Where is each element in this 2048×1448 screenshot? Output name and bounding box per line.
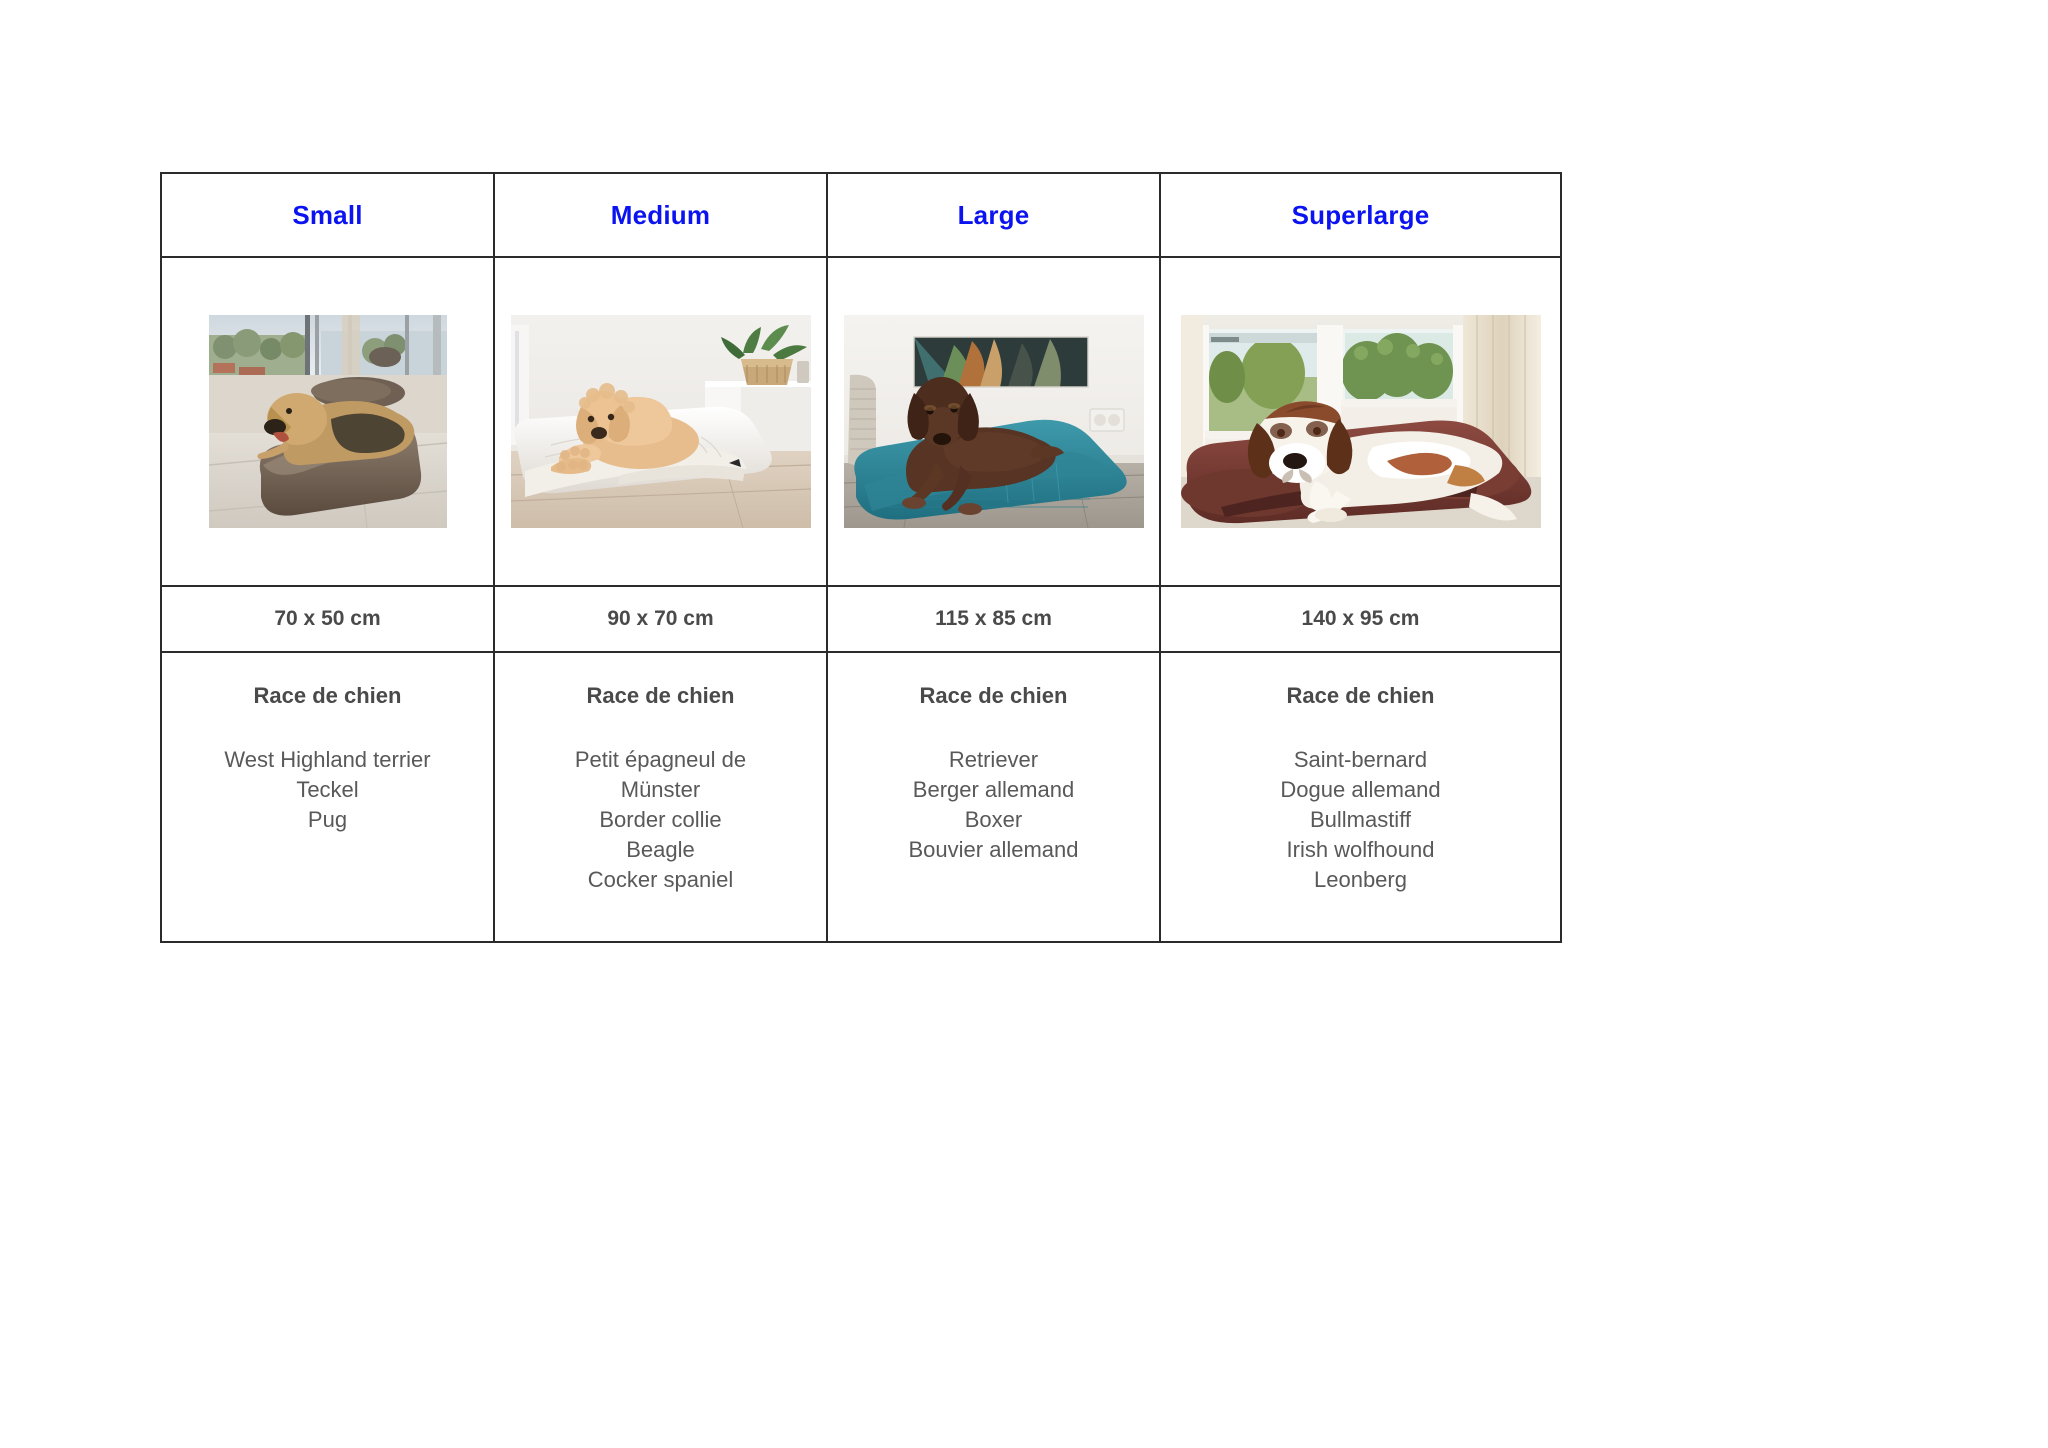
list-item: Boxer (828, 805, 1159, 835)
column-title-superlarge: Superlarge (1161, 174, 1560, 256)
column-title-large: Large (828, 174, 1159, 256)
list-item: Teckel (162, 775, 493, 805)
medium-dog-bed-photo (511, 315, 811, 528)
list-item: Münster (495, 775, 826, 805)
table-photo-row (161, 257, 1561, 586)
list-item: Berger allemand (828, 775, 1159, 805)
dimensions-cell-small: 70 x 50 cm (161, 586, 494, 652)
breeds-title-large: Race de chien (828, 683, 1159, 709)
list-item: Bouvier allemand (828, 835, 1159, 865)
large-dog-bed-photo (844, 315, 1144, 528)
column-title-small: Small (162, 174, 493, 256)
table-header-row: Small Medium Large Superlarge (161, 173, 1561, 257)
page-root: Small Medium Large Superlarge (0, 0, 2048, 1448)
dimensions-small: 70 x 50 cm (162, 587, 493, 651)
list-item: Border collie (495, 805, 826, 835)
dimensions-cell-large: 115 x 85 cm (827, 586, 1160, 652)
medium-dog-bed-illustration (511, 315, 811, 528)
breeds-small: Race de chien West Highland terrier Teck… (162, 653, 493, 941)
list-item: Dogue allemand (1161, 775, 1560, 805)
list-item: Irish wolfhound (1161, 835, 1560, 865)
small-dog-bed-illustration (209, 315, 447, 528)
breeds-title-medium: Race de chien (495, 683, 826, 709)
superlarge-dog-bed-photo (1181, 315, 1541, 528)
list-item: Bullmastiff (1161, 805, 1560, 835)
breeds-medium: Race de chien Petit épagneul de Münster … (495, 653, 826, 941)
photo-container-medium (495, 258, 826, 585)
breeds-title-small: Race de chien (162, 683, 493, 709)
dimensions-large: 115 x 85 cm (828, 587, 1159, 651)
photo-cell-superlarge (1160, 257, 1561, 586)
table-dimensions-row: 70 x 50 cm 90 x 70 cm 115 x 85 cm 140 x … (161, 586, 1561, 652)
list-item: West Highland terrier (162, 745, 493, 775)
superlarge-dog-bed-illustration (1181, 315, 1541, 528)
photo-cell-large (827, 257, 1160, 586)
breed-list-small: West Highland terrier Teckel Pug (162, 745, 493, 835)
dimensions-cell-medium: 90 x 70 cm (494, 586, 827, 652)
breeds-title-superlarge: Race de chien (1161, 683, 1560, 709)
dog-bed-size-table: Small Medium Large Superlarge (160, 172, 1562, 943)
photo-container-large (828, 258, 1159, 585)
breed-list-large: Retriever Berger allemand Boxer Bouvier … (828, 745, 1159, 865)
dimensions-superlarge: 140 x 95 cm (1161, 587, 1560, 651)
breeds-cell-large: Race de chien Retriever Berger allemand … (827, 652, 1160, 942)
small-dog-bed-photo (209, 315, 447, 528)
photo-container-small (162, 258, 493, 585)
dimensions-medium: 90 x 70 cm (495, 587, 826, 651)
list-item: Leonberg (1161, 865, 1560, 895)
photo-container-superlarge (1161, 258, 1560, 585)
list-item: Pug (162, 805, 493, 835)
header-cell-large: Large (827, 173, 1160, 257)
list-item: Petit épagneul de (495, 745, 826, 775)
header-cell-small: Small (161, 173, 494, 257)
breeds-cell-superlarge: Race de chien Saint-bernard Dogue allema… (1160, 652, 1561, 942)
header-cell-medium: Medium (494, 173, 827, 257)
column-title-medium: Medium (495, 174, 826, 256)
dimensions-cell-superlarge: 140 x 95 cm (1160, 586, 1561, 652)
breed-list-superlarge: Saint-bernard Dogue allemand Bullmastiff… (1161, 745, 1560, 895)
table-breeds-row: Race de chien West Highland terrier Teck… (161, 652, 1561, 942)
breeds-large: Race de chien Retriever Berger allemand … (828, 653, 1159, 941)
photo-cell-medium (494, 257, 827, 586)
breeds-superlarge: Race de chien Saint-bernard Dogue allema… (1161, 653, 1560, 941)
breeds-cell-medium: Race de chien Petit épagneul de Münster … (494, 652, 827, 942)
photo-cell-small (161, 257, 494, 586)
list-item: Beagle (495, 835, 826, 865)
list-item: Retriever (828, 745, 1159, 775)
large-dog-bed-illustration (844, 315, 1144, 528)
breed-list-medium: Petit épagneul de Münster Border collie … (495, 745, 826, 895)
breeds-cell-small: Race de chien West Highland terrier Teck… (161, 652, 494, 942)
header-cell-superlarge: Superlarge (1160, 173, 1561, 257)
list-item: Saint-bernard (1161, 745, 1560, 775)
list-item: Cocker spaniel (495, 865, 826, 895)
